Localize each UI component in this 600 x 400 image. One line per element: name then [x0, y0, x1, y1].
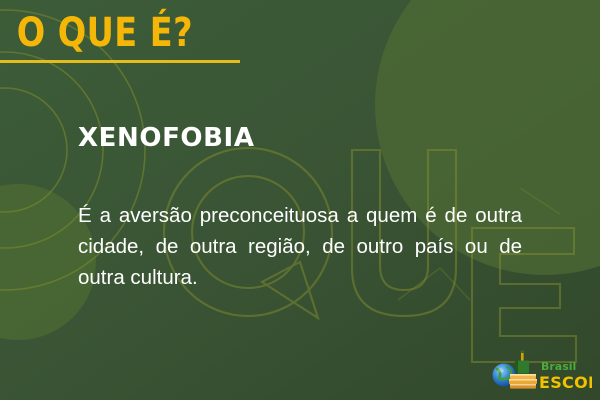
- content-block: XENOFOBIA É a aversão preconceituosa a q…: [78, 122, 522, 293]
- pencil-icon: [520, 350, 524, 361]
- title-block: O QUE É?: [0, 10, 260, 63]
- books-icon: [509, 374, 537, 389]
- brasil-escola-logo[interactable]: Brasil ESCOLA: [488, 348, 592, 394]
- definition-text: É a aversão preconceituosa a quem é de o…: [78, 154, 522, 293]
- page-title: O QUE É?: [0, 10, 242, 56]
- brasil-escola-logo-svg: Brasil ESCOLA: [488, 348, 592, 394]
- slide-card: O QUE É? XENOFOBIA É a aversão preconcei…: [0, 0, 600, 400]
- green-book-icon: [515, 361, 529, 374]
- logo-brand-top: Brasil: [541, 360, 576, 373]
- logo-brand-bottom: ESCOLA: [539, 373, 592, 392]
- title-underline-rule: [0, 60, 240, 63]
- term-heading: XENOFOBIA: [78, 122, 522, 154]
